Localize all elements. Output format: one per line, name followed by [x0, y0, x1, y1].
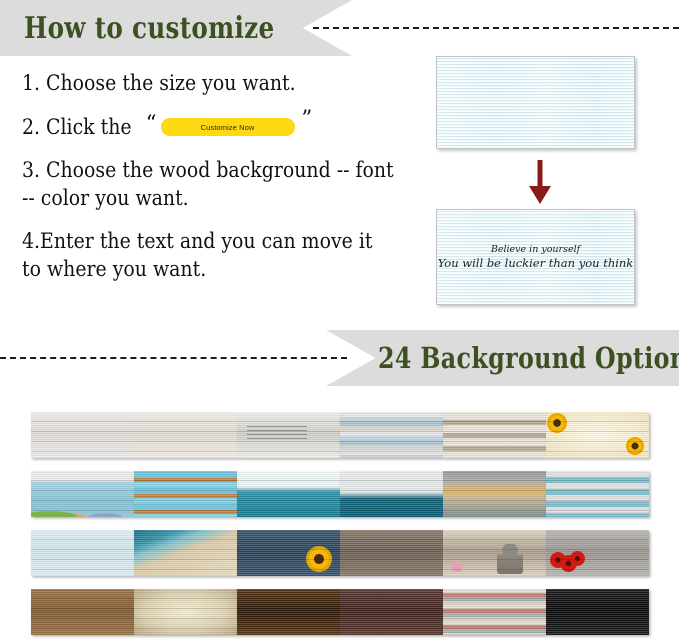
background-thumbnail[interactable]	[546, 589, 649, 635]
background-thumbnail[interactable]	[443, 412, 546, 458]
background-thumbnail[interactable]	[237, 530, 340, 576]
instruction-step-1: 1. Choose the size you want.	[22, 72, 366, 96]
page-title: How to customize	[24, 11, 274, 46]
sunflower-icon	[306, 546, 332, 572]
background-thumbnail[interactable]	[546, 530, 649, 576]
background-thumbnail[interactable]	[546, 412, 649, 458]
background-thumbnail[interactable]	[31, 412, 134, 458]
background-thumbnail[interactable]	[31, 471, 134, 517]
quote-open: “	[146, 113, 157, 134]
background-thumbnail[interactable]	[134, 530, 237, 576]
sign-text-line-1: Believe in yourself	[491, 244, 580, 256]
background-thumbnail[interactable]	[237, 471, 340, 517]
instruction-step-3-line-2: -- color you want.	[22, 187, 366, 211]
background-thumbnail[interactable]	[340, 471, 443, 517]
instruction-step-2: 2. Click the “ Customize Now ”	[22, 116, 404, 140]
customize-now-button[interactable]: Customize Now	[161, 118, 295, 136]
background-thumbnail[interactable]	[340, 412, 443, 458]
poppy-icon-3	[570, 551, 585, 566]
background-thumbnail[interactable]	[546, 471, 649, 517]
poppy-icon-1	[550, 552, 566, 568]
poppy-icon-2	[560, 555, 577, 572]
background-options-banner: 24 Background Options	[326, 330, 679, 386]
sign-text-line-2: You will be luckier than you think	[438, 256, 634, 270]
background-thumbnail[interactable]	[237, 412, 340, 458]
background-thumbnail[interactable]	[443, 589, 546, 635]
step-2-prefix: 2. Click the	[22, 116, 132, 140]
instruction-step-3-line-1: 3. Choose the wood background -- font	[22, 159, 366, 183]
blank-sign-preview[interactable]	[436, 56, 635, 149]
down-arrow-icon	[529, 160, 551, 204]
background-thumbnail[interactable]	[134, 471, 237, 517]
quote-close: ”	[302, 108, 313, 129]
sunflower-icon-bottom-right	[626, 437, 644, 455]
faded-script-overlay	[247, 426, 307, 440]
sign-with-text-preview[interactable]: Believe in yourself You will be luckier …	[436, 209, 635, 305]
sunflower-icon-top-left	[547, 413, 567, 433]
dashed-connector-top	[313, 27, 679, 29]
how-to-customize-banner: How to customize	[0, 0, 352, 56]
background-thumbnail[interactable]	[237, 589, 340, 635]
background-thumbnail[interactable]	[31, 589, 134, 635]
background-options-title: 24 Background Options	[378, 341, 679, 375]
dashed-connector-bottom	[0, 357, 347, 359]
lotus-flower-icon	[449, 558, 465, 572]
background-thumbnail[interactable]	[443, 530, 546, 576]
background-thumbnail[interactable]	[340, 530, 443, 576]
background-thumbnail[interactable]	[134, 412, 237, 458]
instructions-list: 1. Choose the size you want. 2. Click th…	[22, 72, 404, 301]
buddha-statue-icon	[497, 544, 523, 574]
background-thumbnail[interactable]	[31, 530, 134, 576]
instruction-step-4-line-1: 4.Enter the text and you can move it	[22, 230, 366, 254]
coral-accent	[31, 499, 134, 517]
background-thumbnail[interactable]	[340, 589, 443, 635]
background-options-grid	[31, 412, 648, 635]
background-thumbnail[interactable]	[134, 589, 237, 635]
instruction-step-4-line-2: to where you want.	[22, 258, 366, 282]
background-thumbnail[interactable]	[443, 471, 546, 517]
